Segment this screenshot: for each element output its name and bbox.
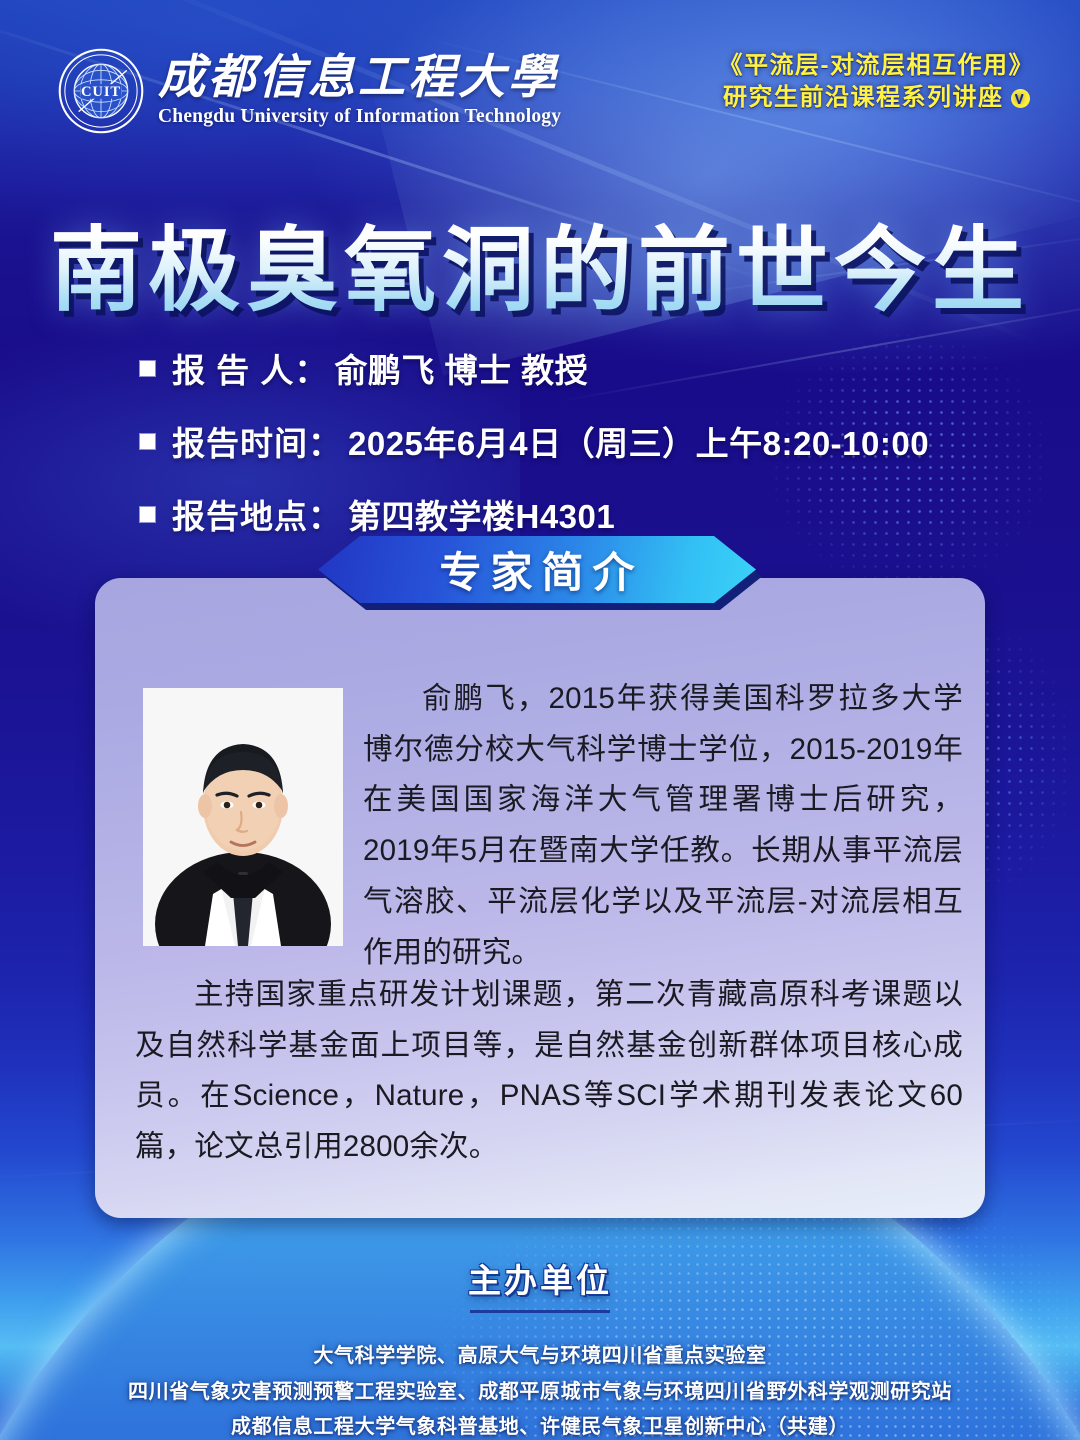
info-label-location: 报告地点： <box>172 490 342 538</box>
speaker-photo <box>143 688 343 946</box>
university-logo-block: CUIT 成都信息工程大學 Chengdu University of Info… <box>58 48 561 134</box>
footer-title-underline <box>470 1310 610 1313</box>
info-row-speaker: 报 告 人： 俞鹏飞 博士 教授 <box>140 344 1000 392</box>
info-label-speaker: 报 告 人： <box>172 344 328 392</box>
lecture-info-list: 报 告 人： 俞鹏飞 博士 教授 报告时间： 2025年6月4日（周三）上午8:… <box>140 344 1000 563</box>
section-banner-shape: 专家简介 <box>318 536 756 603</box>
info-value-time: 2025年6月4日（周三）上午8:20-10:00 <box>348 417 929 465</box>
info-value-speaker: 俞鹏飞 博士 教授 <box>334 344 588 392</box>
info-row-location: 报告地点： 第四教学楼H4301 <box>140 490 1000 538</box>
poster-footer: 主办单位 大气科学学院、高原大气与环境四川省重点实验室 四川省气象灾害预测预警工… <box>0 1254 1080 1440</box>
bio-paragraph-2: 主持国家重点研发计划课题，第二次青藏高原科考课题以及自然科学基金面上项目等，是自… <box>135 970 963 1173</box>
svg-text:CUIT: CUIT <box>81 84 121 100</box>
info-row-time: 报告时间： 2025年6月4日（周三）上午8:20-10:00 <box>140 417 1000 465</box>
university-name-cn: 成都信息工程大學 <box>158 54 561 103</box>
bio-paragraph-1: 俞鹏飞，2015年获得美国科罗拉多大学博尔德分校大气科学博士学位，2015-20… <box>363 674 963 978</box>
lecture-series-line1: 《平流层-对流层相互作用》 <box>719 50 1035 82</box>
section-banner-label: 专家简介 <box>430 539 643 600</box>
footer-title: 主办单位 <box>468 1254 612 1307</box>
cuit-seal-icon: CUIT <box>58 48 144 134</box>
organizer-line: 大气科学学院、高原大气与环境四川省重点实验室 <box>0 1339 1080 1375</box>
page-title: 南极臭氧洞的前世今生 <box>0 196 1080 329</box>
bullet-square-icon <box>140 507 155 522</box>
bullet-square-icon <box>140 434 155 449</box>
lecture-series-label: 《平流层-对流层相互作用》 研究生前沿课程系列讲座 V <box>719 50 1035 114</box>
section-banner: 专家简介 <box>318 536 762 610</box>
organizer-list: 大气科学学院、高原大气与环境四川省重点实验室 四川省气象灾害预测预警工程实验室、… <box>0 1339 1080 1440</box>
poster-root: CUIT 成都信息工程大學 Chengdu University of Info… <box>0 0 1080 1440</box>
bullet-square-icon <box>140 361 155 376</box>
info-value-location: 第四教学楼H4301 <box>348 490 615 538</box>
speaker-bio-card: 俞鹏飞，2015年获得美国科罗拉多大学博尔德分校大气科学博士学位，2015-20… <box>95 578 985 1218</box>
organizer-line: 四川省气象灾害预测预警工程实验室、成都平原城市气象与环境四川省野外科学观测研究站 <box>0 1375 1080 1411</box>
university-name-en: Chengdu University of Information Techno… <box>158 106 561 128</box>
info-label-time: 报告时间： <box>172 417 342 465</box>
poster-header: CUIT 成都信息工程大學 Chengdu University of Info… <box>0 0 1080 150</box>
lecture-series-line2-wrap: 研究生前沿课程系列讲座 V <box>719 82 1035 114</box>
lecture-series-line2: 研究生前沿课程系列讲座 <box>723 82 1004 114</box>
organizer-line: 成都信息工程大学气象科普基地、许健民气象卫星创新中心（共建） <box>0 1410 1080 1440</box>
verified-badge-icon: V <box>1011 89 1030 108</box>
university-names: 成都信息工程大學 Chengdu University of Informati… <box>158 54 561 127</box>
